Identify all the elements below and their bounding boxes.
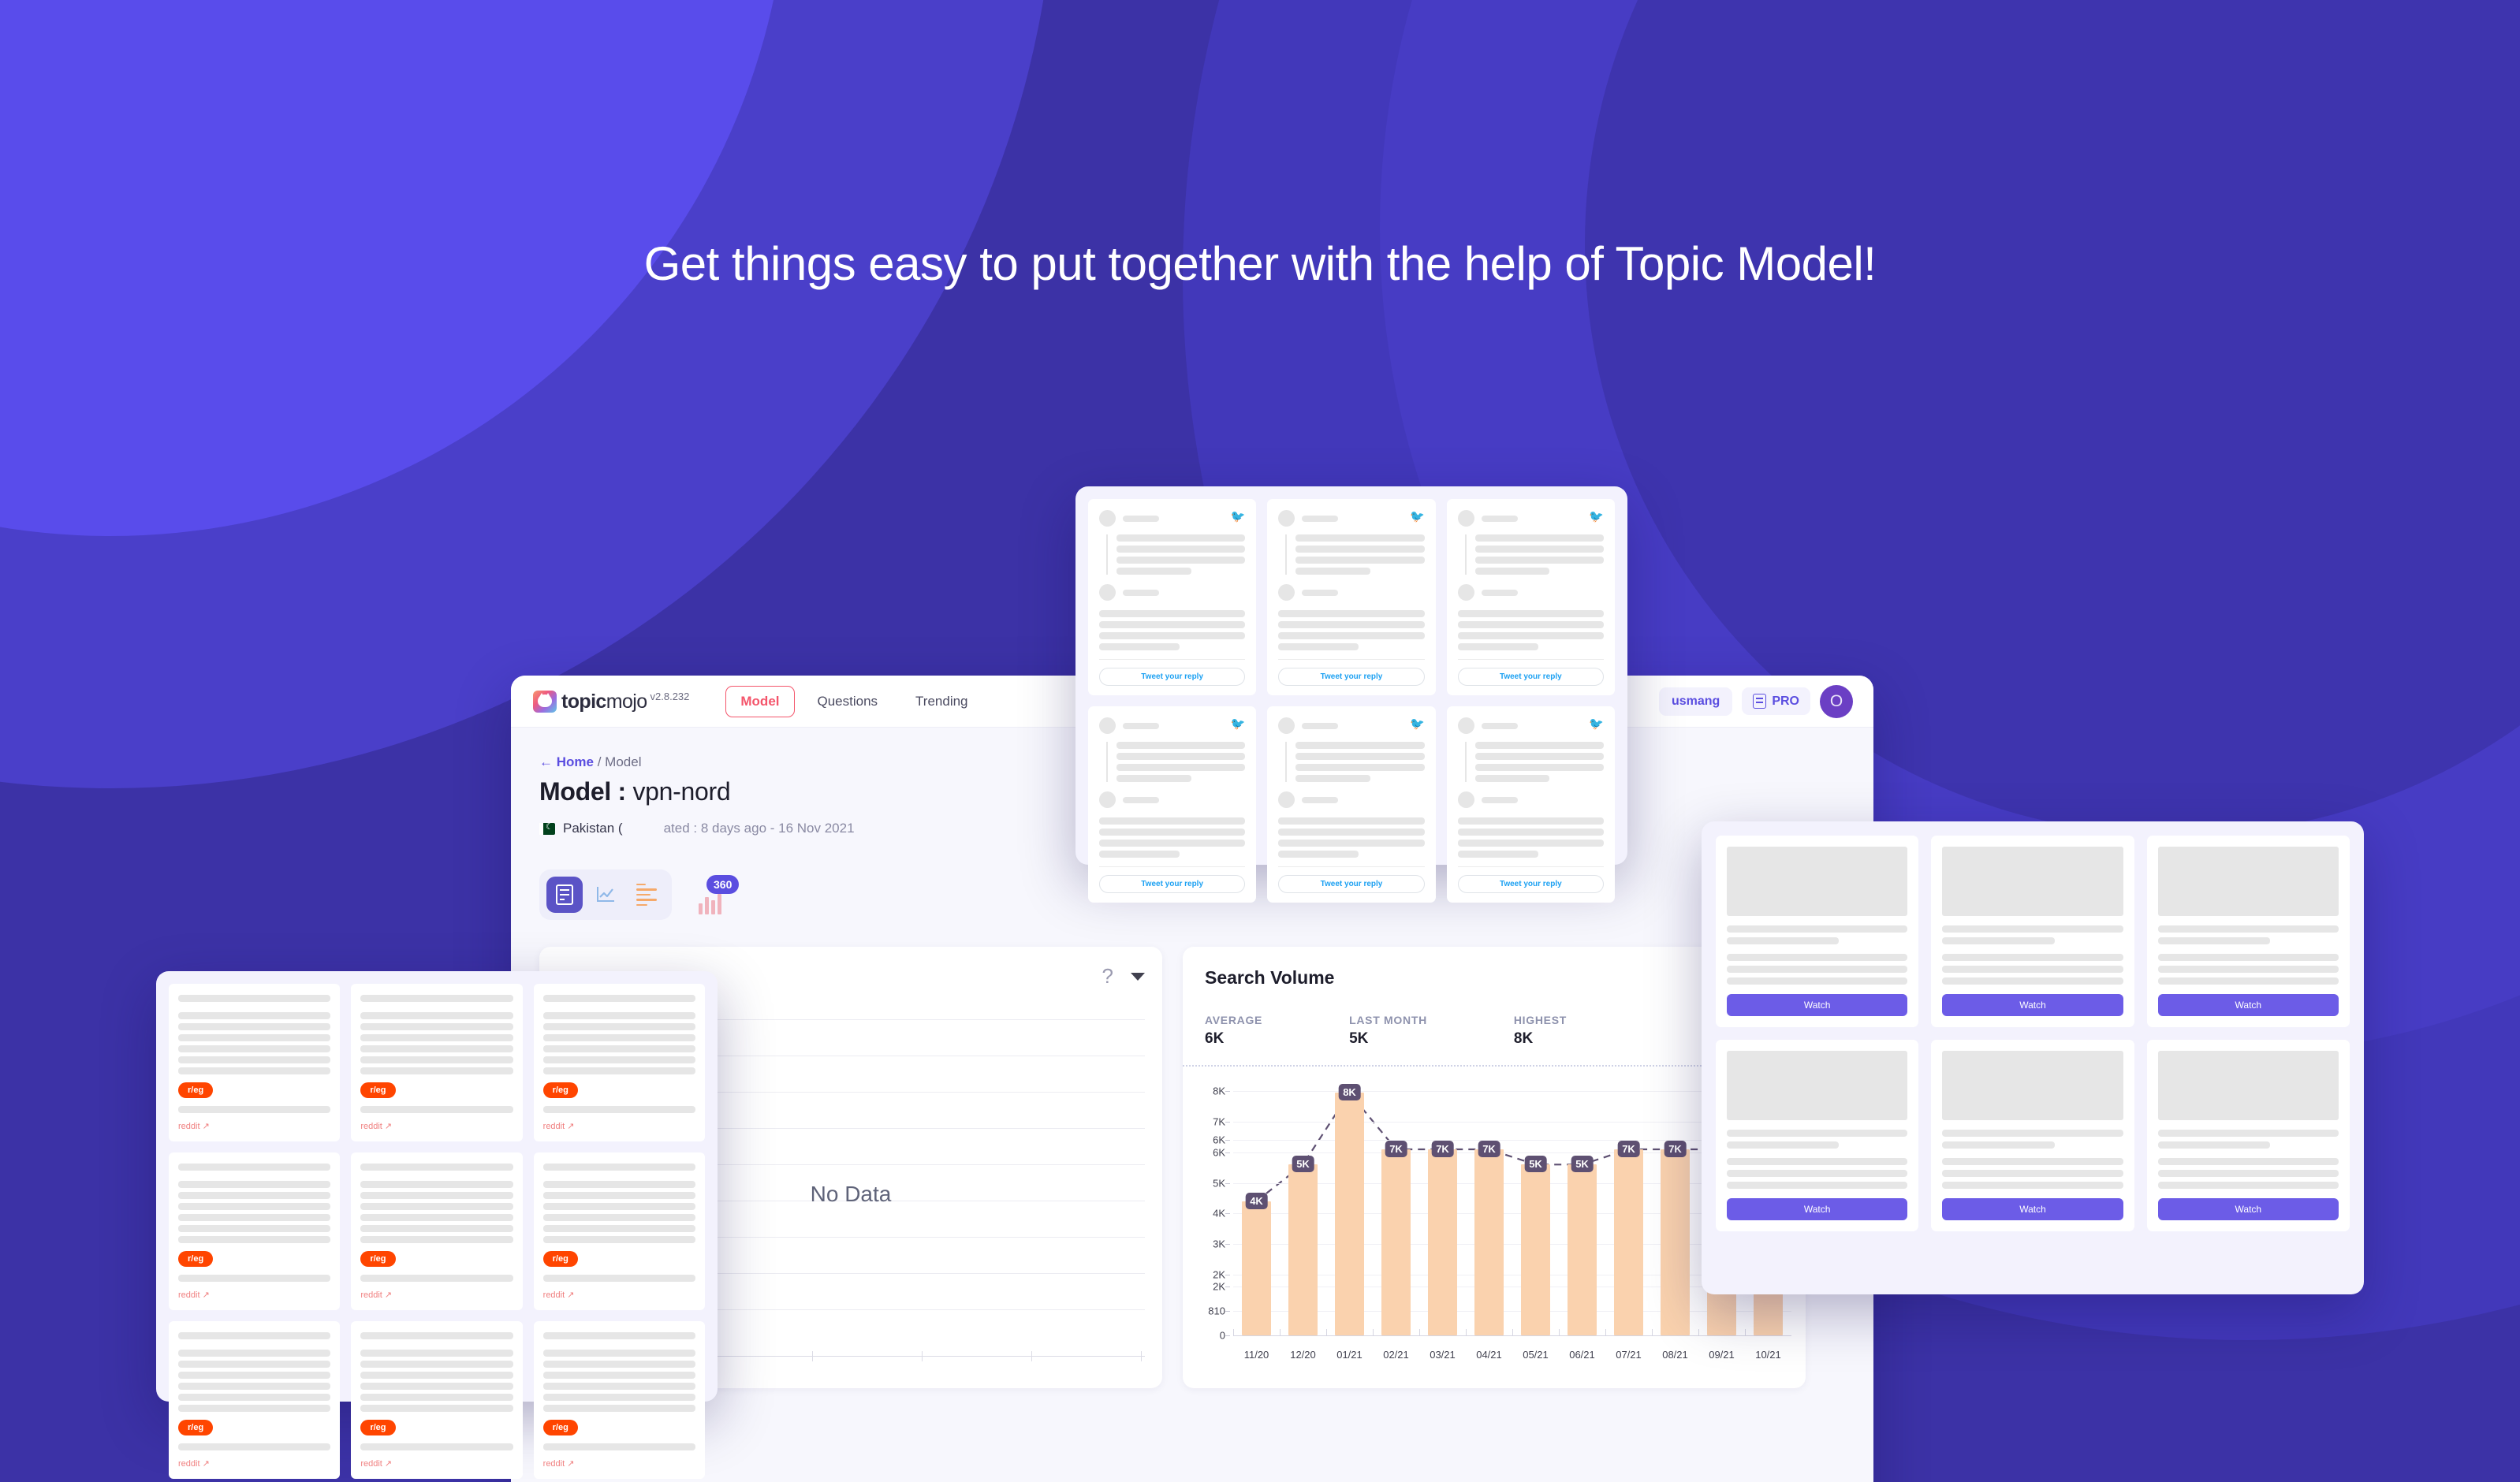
- tweet-reply-button[interactable]: Tweet your reply: [1099, 668, 1245, 686]
- page-title-value: vpn-nord: [632, 777, 730, 806]
- skeleton-line: [1727, 954, 1907, 961]
- reddit-card[interactable]: r/egreddit ↗: [169, 984, 340, 1141]
- chart-y-tick: [1225, 1275, 1230, 1275]
- reddit-card[interactable]: r/egreddit ↗: [351, 1152, 522, 1310]
- chart-x-tick-label: 12/20: [1290, 1349, 1316, 1361]
- skeleton-line: [1295, 557, 1424, 564]
- twitter-card-header: 🐦: [1278, 510, 1424, 527]
- skeleton-line: [1458, 817, 1604, 825]
- chart-point-label: 7K: [1617, 1141, 1640, 1157]
- skeleton-line: [178, 1350, 330, 1357]
- subreddit-badge[interactable]: r/eg: [360, 1251, 395, 1267]
- hero-headline: Get things easy to put together with the…: [0, 236, 2520, 291]
- chart-x-tick-label: 10/21: [1755, 1349, 1781, 1361]
- video-thumbnail[interactable]: [1942, 847, 2123, 916]
- chart-x-tick-label: 05/21: [1523, 1349, 1549, 1361]
- video-thumbnail[interactable]: [2158, 1051, 2339, 1120]
- chart-x-tick: [1280, 1329, 1281, 1336]
- username-pill[interactable]: usmang: [1659, 687, 1732, 716]
- twitter-body: [1099, 817, 1245, 858]
- stat-last-month-label: LAST MONTH: [1349, 1014, 1427, 1026]
- twitter-card-reply-author: [1278, 584, 1424, 601]
- breadcrumb-home-label: Home: [557, 754, 594, 769]
- twitter-card[interactable]: 🐦Tweet your reply: [1447, 499, 1615, 695]
- video-title-skeleton: [1727, 925, 1907, 944]
- tweet-reply-button[interactable]: Tweet your reply: [1458, 875, 1604, 893]
- reddit-card[interactable]: r/egreddit ↗: [534, 1321, 705, 1479]
- skeleton-line: [360, 1067, 513, 1074]
- breadcrumb-home[interactable]: ← Home: [539, 754, 594, 769]
- avatar[interactable]: O: [1820, 685, 1853, 718]
- video-thumbnail[interactable]: [2158, 847, 2339, 916]
- tweet-reply-button[interactable]: Tweet your reply: [1278, 875, 1424, 893]
- skeleton-line: [1475, 742, 1604, 749]
- chart-x-tick-label: 02/21: [1383, 1349, 1409, 1361]
- chart-x-tick: [1559, 1329, 1560, 1336]
- skeleton-line: [543, 1405, 695, 1412]
- chart-bar[interactable]: [1474, 1149, 1504, 1335]
- skeleton-line: [2158, 1141, 2270, 1149]
- avatar: [1458, 791, 1474, 808]
- skeleton-line: [1099, 610, 1245, 617]
- app-user-area: usmang PRO O: [1659, 685, 1853, 718]
- skeleton-line: [1942, 1170, 2123, 1177]
- chart-y-tick: [1225, 1244, 1230, 1245]
- reddit-source-link[interactable]: reddit ↗: [178, 1121, 330, 1131]
- divider: [1099, 866, 1245, 867]
- video-card[interactable]: Watch: [1931, 836, 2134, 1027]
- subreddit-badge[interactable]: r/eg: [543, 1251, 578, 1267]
- twitter-card-reply-author: [1458, 584, 1604, 601]
- subreddit-badge[interactable]: r/eg: [360, 1082, 395, 1098]
- stat-average: AVERAGE 6K: [1205, 1014, 1262, 1048]
- skeleton-line: [1942, 1130, 2123, 1137]
- skeleton-line: [178, 1181, 330, 1188]
- breadcrumb-current: Model: [605, 754, 641, 769]
- skeleton-line: [1727, 1130, 1907, 1137]
- chart-y-tick-label: 7K: [1213, 1116, 1225, 1128]
- chart-x-tick: [1373, 1329, 1374, 1336]
- skeleton-line: [1727, 966, 1907, 973]
- skeleton-line: [543, 1181, 695, 1188]
- skeleton-line: [360, 1275, 513, 1282]
- watch-button[interactable]: Watch: [2158, 994, 2339, 1016]
- topicmojo-cat-icon: [533, 691, 557, 713]
- skeleton-line: [360, 1056, 513, 1063]
- avatar: [1099, 717, 1116, 734]
- chart-y-tick-label: 2K: [1213, 1281, 1225, 1293]
- chart-bar[interactable]: [1568, 1164, 1597, 1335]
- skeleton-line: [543, 1394, 695, 1401]
- skeleton-line: [2158, 1170, 2339, 1177]
- chart-x-tick: [1698, 1329, 1699, 1336]
- video-title-skeleton: [2158, 1130, 2339, 1149]
- skeleton-line: [1458, 643, 1538, 650]
- chart-y-tick-label: 3K: [1213, 1238, 1225, 1249]
- chart-bar[interactable]: [1381, 1149, 1411, 1335]
- skeleton-line: [1116, 568, 1191, 575]
- stat-last-month: LAST MONTH 5K: [1349, 1014, 1427, 1048]
- chart-y-tick-label: 8K: [1213, 1085, 1225, 1097]
- video-thumbnail[interactable]: [1727, 847, 1907, 916]
- reddit-source-link[interactable]: reddit ↗: [543, 1121, 695, 1131]
- subreddit-badge[interactable]: r/eg: [543, 1420, 578, 1435]
- skeleton-line: [178, 1203, 330, 1210]
- skeleton-line: [543, 1164, 695, 1171]
- chart-bar[interactable]: [1428, 1149, 1457, 1335]
- avatar: [1099, 510, 1116, 527]
- twitter-card-grid: 🐦Tweet your reply🐦Tweet your reply🐦Tweet…: [1088, 499, 1615, 903]
- watch-button[interactable]: Watch: [1942, 994, 2123, 1016]
- skeleton-line: [178, 1034, 330, 1041]
- avatar: [1278, 584, 1295, 601]
- chart-point-label: 7K: [1478, 1141, 1500, 1157]
- skeleton-line: [1295, 764, 1424, 771]
- skeleton-line: [1295, 742, 1424, 749]
- skeleton-line: [1475, 568, 1550, 575]
- chart-y-tick-label: 0: [1220, 1330, 1225, 1342]
- skeleton-line: [543, 1225, 695, 1232]
- video-desc-skeleton: [1942, 954, 2123, 985]
- skeleton-username: [1123, 516, 1159, 522]
- chart-bar[interactable]: [1661, 1149, 1690, 1335]
- view-toggle-document[interactable]: [546, 877, 583, 913]
- twitter-body: [1278, 817, 1424, 858]
- pakistan-flag-icon: [539, 823, 555, 835]
- chevron-down-icon[interactable]: [1131, 973, 1145, 981]
- chart-y-tick: [1225, 1140, 1230, 1141]
- skeleton-line: [543, 1056, 695, 1063]
- skeleton-line: [178, 1056, 330, 1063]
- chart-x-tick-label: 09/21: [1709, 1349, 1735, 1361]
- skeleton-line: [1727, 977, 1907, 985]
- reddit-source-link[interactable]: reddit ↗: [178, 1458, 330, 1469]
- skeleton-line: [1942, 977, 2123, 985]
- reddit-card[interactable]: r/egreddit ↗: [351, 1321, 522, 1479]
- skeleton-username: [1123, 590, 1159, 596]
- skeleton-line: [360, 1372, 513, 1379]
- twitter-card-header: 🐦: [1458, 717, 1604, 734]
- skeleton-line: [1099, 829, 1245, 836]
- watch-button[interactable]: Watch: [1727, 1198, 1907, 1220]
- video-card[interactable]: Watch: [1716, 1040, 1918, 1231]
- video-desc-skeleton: [1727, 954, 1907, 985]
- divider: [1278, 866, 1424, 867]
- skeleton-line: [178, 1225, 330, 1232]
- twitter-card[interactable]: 🐦Tweet your reply: [1447, 706, 1615, 903]
- chart-x-tick-label: 07/21: [1616, 1349, 1642, 1361]
- twitter-bird-icon: 🐦: [1410, 511, 1425, 523]
- skeleton-line: [1278, 829, 1424, 836]
- subreddit-badge[interactable]: r/eg: [178, 1082, 213, 1098]
- skeleton-line: [1727, 1170, 1907, 1177]
- video-desc-skeleton: [2158, 954, 2339, 985]
- skeleton-line: [543, 1023, 695, 1030]
- logo-text-bold: topic: [561, 691, 606, 713]
- stat-highest-value: 8K: [1514, 1030, 1567, 1048]
- skeleton-line: [1295, 753, 1424, 760]
- skeleton-line: [1458, 840, 1604, 847]
- reddit-card[interactable]: r/egreddit ↗: [534, 1152, 705, 1310]
- chart-x-tick-label: 01/21: [1336, 1349, 1363, 1361]
- chart-x-tick: [1652, 1329, 1653, 1336]
- skeleton-line: [178, 1192, 330, 1199]
- tweet-reply-button[interactable]: Tweet your reply: [1099, 875, 1245, 893]
- skeleton-line: [1099, 621, 1245, 628]
- twitter-card-header: 🐦: [1099, 510, 1245, 527]
- twitter-quote-block: [1465, 742, 1604, 782]
- chart-y-tick-label: 810: [1208, 1305, 1225, 1316]
- tab-model[interactable]: Model: [725, 686, 794, 717]
- twitter-quote-block: [1106, 534, 1245, 575]
- skeleton-username: [1302, 516, 1338, 522]
- skeleton-line: [1295, 546, 1424, 553]
- app-nav: Model Questions Trending: [725, 686, 982, 717]
- reddit-source-link[interactable]: reddit ↗: [178, 1290, 330, 1300]
- chart-bar[interactable]: [1335, 1093, 1364, 1335]
- skeleton-line: [543, 1443, 695, 1450]
- twitter-bird-icon: 🐦: [1231, 511, 1246, 523]
- skeleton-line: [360, 1012, 513, 1019]
- divider: [1278, 659, 1424, 660]
- score-badge-wrap[interactable]: 360: [695, 875, 736, 914]
- skeleton-line: [543, 1045, 695, 1052]
- skeleton-line: [1942, 1182, 2123, 1189]
- skeleton-line: [1727, 925, 1907, 933]
- chart-bar[interactable]: [1521, 1164, 1550, 1335]
- skeleton-line: [543, 1067, 695, 1074]
- skeleton-line: [1099, 851, 1180, 858]
- chart-y-axis: 8K7K6K6K5K4K3K2K2K8100: [1194, 1079, 1230, 1336]
- skeleton-line: [360, 1332, 513, 1339]
- chart-x-tick-label: 08/21: [1662, 1349, 1688, 1361]
- video-title-skeleton: [2158, 925, 2339, 944]
- skeleton-line: [360, 1203, 513, 1210]
- skeleton-line: [1458, 851, 1538, 858]
- video-thumbnail[interactable]: [1727, 1051, 1907, 1120]
- skeleton-line: [1942, 925, 2123, 933]
- divider: [1099, 659, 1245, 660]
- skeleton-line: [1727, 1158, 1907, 1165]
- skeleton-line: [178, 1106, 330, 1113]
- avatar: [1099, 584, 1116, 601]
- skeleton-line: [1278, 610, 1424, 617]
- subreddit-badge[interactable]: r/eg: [178, 1251, 213, 1267]
- skeleton-line: [1475, 775, 1550, 782]
- skeleton-line: [1099, 643, 1180, 650]
- skeleton-line: [543, 1372, 695, 1379]
- video-thumbnail[interactable]: [1942, 1051, 2123, 1120]
- skeleton-username: [1482, 516, 1518, 522]
- skeleton-line: [2158, 925, 2339, 933]
- stat-highest-label: HIGHEST: [1514, 1014, 1567, 1026]
- skeleton-line: [1295, 568, 1370, 575]
- tab-questions[interactable]: Questions: [803, 686, 893, 717]
- chart-y-tick-label: 4K: [1213, 1208, 1225, 1219]
- twitter-card-header: 🐦: [1458, 510, 1604, 527]
- video-card[interactable]: Watch: [2147, 1040, 2350, 1231]
- reddit-source-link[interactable]: reddit ↗: [360, 1290, 513, 1300]
- twitter-body: [1278, 610, 1424, 650]
- plan-badge-label: PRO: [1772, 694, 1799, 709]
- twitter-card-reply-author: [1099, 584, 1245, 601]
- skeleton-line: [360, 1236, 513, 1243]
- video-card[interactable]: Watch: [1931, 1040, 2134, 1231]
- video-title-skeleton: [1942, 925, 2123, 944]
- chart-x-tick: [1605, 1329, 1606, 1336]
- skeleton-line: [178, 1405, 330, 1412]
- skeleton-line: [178, 1236, 330, 1243]
- skeleton-line: [1942, 1158, 2123, 1165]
- video-card[interactable]: Watch: [2147, 836, 2350, 1027]
- subreddit-badge[interactable]: r/eg: [178, 1420, 213, 1435]
- watch-button[interactable]: Watch: [1942, 1198, 2123, 1220]
- reddit-card[interactable]: r/egreddit ↗: [351, 984, 522, 1141]
- skeleton-line: [1116, 753, 1245, 760]
- help-icon[interactable]: ?: [1102, 964, 1113, 989]
- video-desc-skeleton: [1942, 1158, 2123, 1189]
- video-card[interactable]: Watch: [1716, 836, 1918, 1027]
- reddit-source-link[interactable]: reddit ↗: [360, 1121, 513, 1131]
- skeleton-line: [543, 1192, 695, 1199]
- skeleton-line: [178, 1214, 330, 1221]
- stat-highest: HIGHEST 8K: [1514, 1014, 1567, 1048]
- skeleton-line: [1475, 557, 1604, 564]
- meta-updated: ated : 8 days ago - 16 Nov 2021: [664, 821, 855, 836]
- reddit-source-link[interactable]: reddit ↗: [360, 1458, 513, 1469]
- chart-y-tick-label: 5K: [1213, 1177, 1225, 1189]
- skeleton-line: [178, 1443, 330, 1450]
- skeleton-line: [178, 1394, 330, 1401]
- chart-x-tick-label: 04/21: [1476, 1349, 1502, 1361]
- document-icon: [556, 884, 573, 905]
- skeleton-line: [1278, 840, 1424, 847]
- view-toggle-chart[interactable]: [587, 877, 624, 913]
- chart-bar[interactable]: [1614, 1149, 1643, 1335]
- tweet-reply-button[interactable]: Tweet your reply: [1458, 668, 1604, 686]
- skeleton-line: [543, 1106, 695, 1113]
- skeleton-line: [543, 1214, 695, 1221]
- twitter-body: [1099, 610, 1245, 650]
- list-icon: [636, 884, 657, 907]
- skeleton-line: [543, 1236, 695, 1243]
- skeleton-line: [1099, 817, 1245, 825]
- skeleton-username: [1482, 797, 1518, 803]
- skeleton-line: [178, 1023, 330, 1030]
- score-badge: 360: [706, 875, 739, 894]
- chart-y-tick: [1225, 1287, 1230, 1287]
- skeleton-line: [178, 1012, 330, 1019]
- subreddit-badge[interactable]: r/eg: [543, 1082, 578, 1098]
- meta-country: Pakistan (: [563, 821, 623, 836]
- skeleton-line: [360, 1225, 513, 1232]
- skeleton-line: [360, 1192, 513, 1199]
- skeleton-line: [360, 1214, 513, 1221]
- skeleton-line: [1458, 829, 1604, 836]
- watch-button[interactable]: Watch: [2158, 1198, 2339, 1220]
- skeleton-line: [360, 1394, 513, 1401]
- chart-y-tick-label: 6K: [1213, 1134, 1225, 1146]
- twitter-card[interactable]: 🐦Tweet your reply: [1088, 706, 1256, 903]
- skeleton-line: [1116, 742, 1245, 749]
- twitter-quote-block: [1285, 534, 1424, 575]
- chart-x-tick-label: 11/20: [1244, 1349, 1269, 1361]
- skeleton-line: [178, 1164, 330, 1171]
- twitter-bird-icon: 🐦: [1589, 511, 1604, 523]
- skeleton-line: [2158, 977, 2339, 985]
- skeleton-line: [178, 1067, 330, 1074]
- reddit-source-link[interactable]: reddit ↗: [543, 1290, 695, 1300]
- subreddit-badge[interactable]: r/eg: [360, 1420, 395, 1435]
- app-logo[interactable]: topicmojo v2.8.232: [533, 691, 689, 713]
- skeleton-line: [2158, 937, 2270, 944]
- reddit-card[interactable]: r/egreddit ↗: [534, 984, 705, 1141]
- chart-bar[interactable]: [1288, 1164, 1318, 1335]
- chart-x-tick: [1233, 1329, 1234, 1336]
- divider: [1458, 866, 1604, 867]
- reddit-card[interactable]: r/egreddit ↗: [169, 1321, 340, 1479]
- skeleton-line: [543, 1275, 695, 1282]
- skeleton-line: [1458, 610, 1604, 617]
- watch-button[interactable]: Watch: [1727, 994, 1907, 1016]
- reddit-source-link[interactable]: reddit ↗: [543, 1458, 695, 1469]
- twitter-card-reply-author: [1099, 791, 1245, 808]
- skeleton-line: [2158, 966, 2339, 973]
- skeleton-line: [178, 995, 330, 1002]
- skeleton-line: [1116, 764, 1245, 771]
- skeleton-username: [1482, 590, 1518, 596]
- skeleton-line: [360, 1405, 513, 1412]
- skeleton-line: [360, 1023, 513, 1030]
- search-volume-stats: AVERAGE 6K LAST MONTH 5K HIGHEST 8K: [1205, 1014, 1784, 1048]
- twitter-bird-icon: 🐦: [1231, 718, 1246, 730]
- breadcrumb-separator: /: [598, 754, 602, 769]
- tab-trending[interactable]: Trending: [900, 686, 982, 717]
- skeleton-line: [1942, 1141, 2054, 1149]
- twitter-card[interactable]: 🐦Tweet your reply: [1267, 499, 1435, 695]
- skeleton-username: [1302, 797, 1338, 803]
- twitter-card[interactable]: 🐦Tweet your reply: [1088, 499, 1256, 695]
- video-desc-skeleton: [2158, 1158, 2339, 1189]
- reddit-card[interactable]: r/egreddit ↗: [169, 1152, 340, 1310]
- skeleton-line: [1475, 764, 1604, 771]
- twitter-card-reply-author: [1278, 791, 1424, 808]
- chart-bar[interactable]: [1242, 1201, 1271, 1335]
- plan-badge[interactable]: PRO: [1742, 687, 1810, 715]
- skeleton-line: [1727, 1141, 1839, 1149]
- skeleton-line: [1278, 643, 1359, 650]
- tweet-reply-button[interactable]: Tweet your reply: [1278, 668, 1424, 686]
- twitter-card[interactable]: 🐦Tweet your reply: [1267, 706, 1435, 903]
- skeleton-line: [360, 1350, 513, 1357]
- skeleton-line: [1099, 632, 1245, 639]
- bar-chart-icon: [699, 894, 721, 914]
- reddit-card-grid: r/egreddit ↗r/egreddit ↗r/egreddit ↗r/eg…: [169, 984, 705, 1479]
- document-icon: [1753, 694, 1766, 709]
- skeleton-username: [1302, 723, 1338, 729]
- line-chart-icon: [595, 885, 616, 904]
- chart-y-tick: [1225, 1183, 1230, 1184]
- skeleton-line: [1295, 534, 1424, 542]
- logo-text: topicmojo: [561, 691, 647, 713]
- logo-version: v2.8.232: [651, 691, 690, 703]
- skeleton-line: [2158, 954, 2339, 961]
- skeleton-line: [543, 1332, 695, 1339]
- twitter-body: [1458, 817, 1604, 858]
- skeleton-line: [1116, 775, 1191, 782]
- view-toggle-list[interactable]: [628, 877, 665, 913]
- skeleton-line: [1727, 937, 1839, 944]
